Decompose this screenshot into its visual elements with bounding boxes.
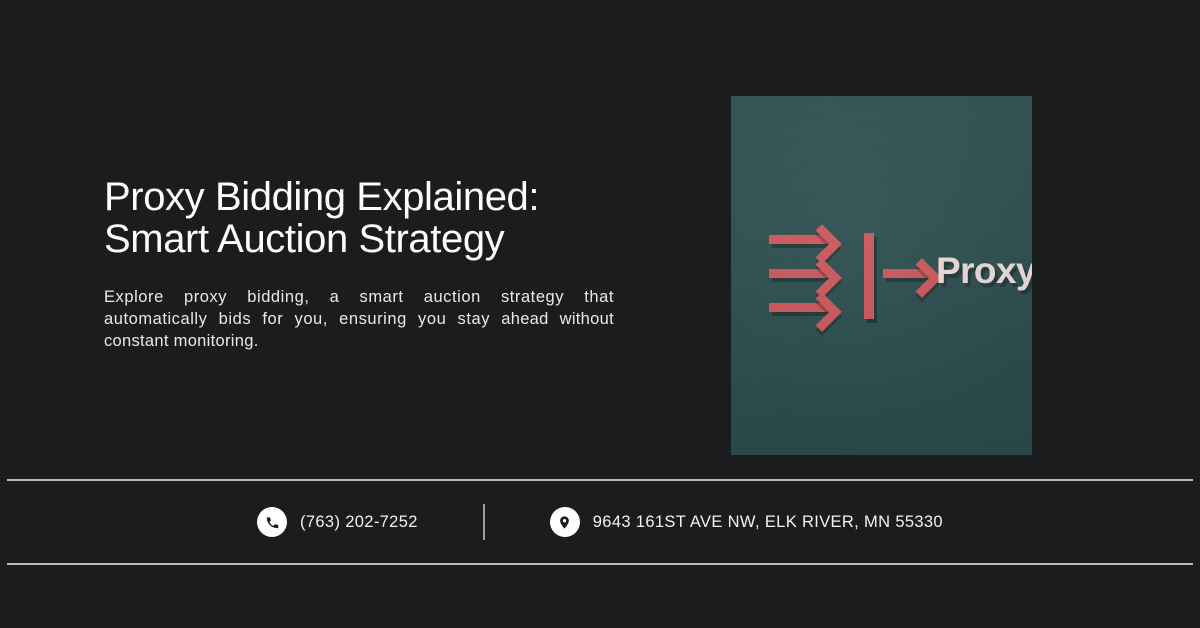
address-text: 9643 161ST AVE NW, ELK RIVER, MN 55330: [593, 512, 943, 532]
hero-copy-block: Proxy Bidding Explained: Smart Auction S…: [104, 176, 652, 352]
hero-subcopy: Explore proxy bidding, a smart auction s…: [104, 286, 614, 352]
arrow-right-icon: [769, 235, 831, 244]
page-title: Proxy Bidding Explained: Smart Auction S…: [104, 176, 652, 260]
arrow-right-icon: [769, 303, 831, 312]
contact-address[interactable]: 9643 161ST AVE NW, ELK RIVER, MN 55330: [550, 507, 943, 537]
contact-bar: (763) 202-7252 9643 161ST AVE NW, ELK RI…: [0, 481, 1200, 563]
incoming-arrows-group: [769, 229, 869, 323]
media-panel: Proxy: [731, 96, 1032, 455]
phone-number-text: (763) 202-7252: [300, 512, 418, 532]
banner-root: Proxy Bidding Explained: Smart Auction S…: [0, 0, 1200, 628]
proxy-illustration: Proxy: [731, 226, 1032, 326]
location-pin-icon: [550, 507, 580, 537]
hero-section: Proxy Bidding Explained: Smart Auction S…: [0, 0, 1200, 479]
vertical-bar-icon: [864, 233, 874, 319]
contact-separator: [483, 504, 485, 540]
footer-divider-bottom: [7, 563, 1193, 565]
subcopy-line-1: Explore proxy bidding, a smart auction s…: [104, 288, 564, 306]
contact-phone[interactable]: (763) 202-7252: [257, 507, 418, 537]
arrow-right-icon: [769, 269, 831, 278]
arrow-right-icon: [883, 269, 931, 278]
proxy-label: Proxy: [936, 248, 1032, 294]
phone-icon: [257, 507, 287, 537]
